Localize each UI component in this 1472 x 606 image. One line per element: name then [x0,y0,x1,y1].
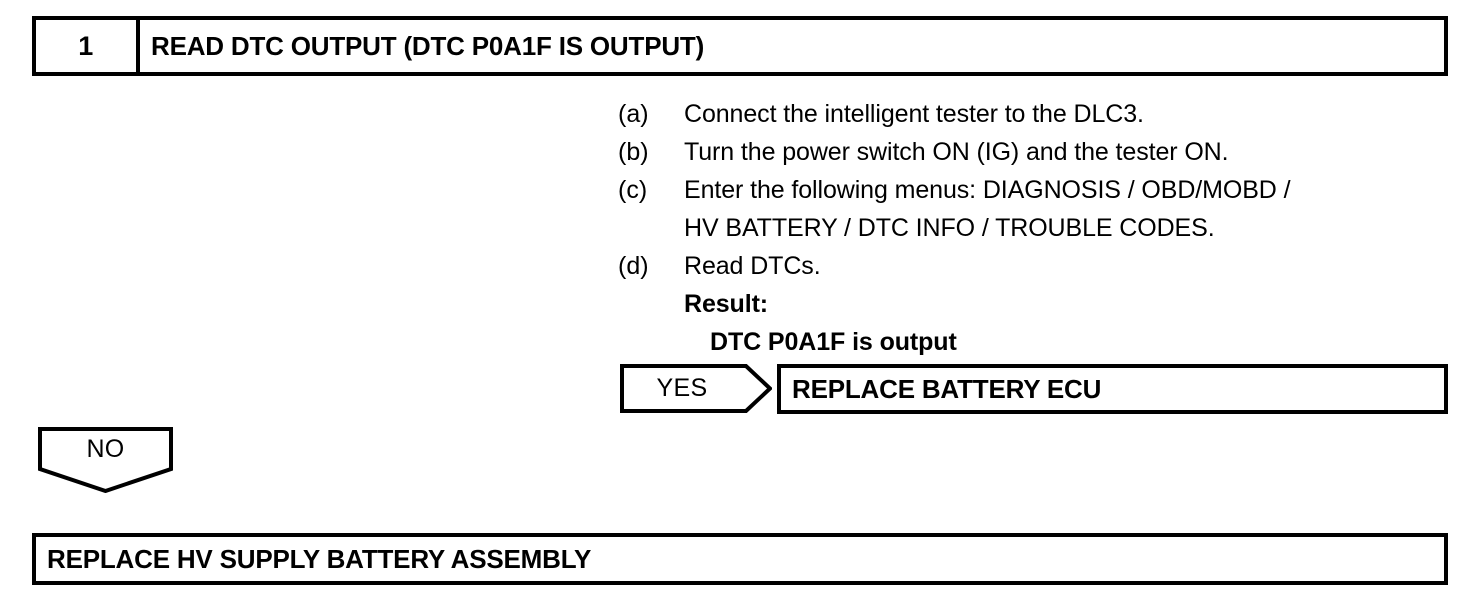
result-heading-row: Result: [618,285,1458,323]
yes-outcome-box: REPLACE BATTERY ECU [777,364,1448,414]
procedure-text: Connect the intelligent tester to the DL… [684,95,1144,133]
no-branch-tag: NO [38,427,173,493]
procedure-item-d: (d) Read DTCs. [618,247,1458,285]
step-number-cell: 1 [36,20,140,72]
step-header-bar: 1 READ DTC OUTPUT (DTC P0A1F IS OUTPUT) [32,16,1448,76]
procedure-text: Turn the power switch ON (IG) and the te… [684,133,1228,171]
procedure-list: (a) Connect the intelligent tester to th… [618,95,1458,361]
procedure-text: Read DTCs. [684,247,821,285]
procedure-marker: (d) [618,247,684,285]
yes-outcome-text: REPLACE BATTERY ECU [792,376,1101,402]
procedure-marker: (b) [618,133,684,171]
procedure-text: HV BATTERY / DTC INFO / TROUBLE CODES. [684,209,1215,247]
procedure-item-b: (b) Turn the power switch ON (IG) and th… [618,133,1458,171]
procedure-item-c-continuation: HV BATTERY / DTC INFO / TROUBLE CODES. [618,209,1458,247]
no-branch-label: NO [38,427,173,471]
no-outcome-text: REPLACE HV SUPPLY BATTERY ASSEMBLY [47,546,591,572]
yes-branch-label: YES [620,364,744,413]
step-number: 1 [78,33,94,60]
procedure-text: Enter the following menus: DIAGNOSIS / O… [684,171,1290,209]
no-outcome-box: REPLACE HV SUPPLY BATTERY ASSEMBLY [32,533,1448,585]
procedure-item-a: (a) Connect the intelligent tester to th… [618,95,1458,133]
step-title: READ DTC OUTPUT (DTC P0A1F IS OUTPUT) [151,33,704,59]
result-value: DTC P0A1F is output [684,323,957,361]
result-heading: Result: [684,285,768,323]
procedure-item-c: (c) Enter the following menus: DIAGNOSIS… [618,171,1458,209]
yes-branch-tag: YES [620,364,772,413]
procedure-marker: (c) [618,171,684,209]
result-value-row: DTC P0A1F is output [618,323,1458,361]
procedure-marker: (a) [618,95,684,133]
step-title-cell: READ DTC OUTPUT (DTC P0A1F IS OUTPUT) [140,20,1444,72]
